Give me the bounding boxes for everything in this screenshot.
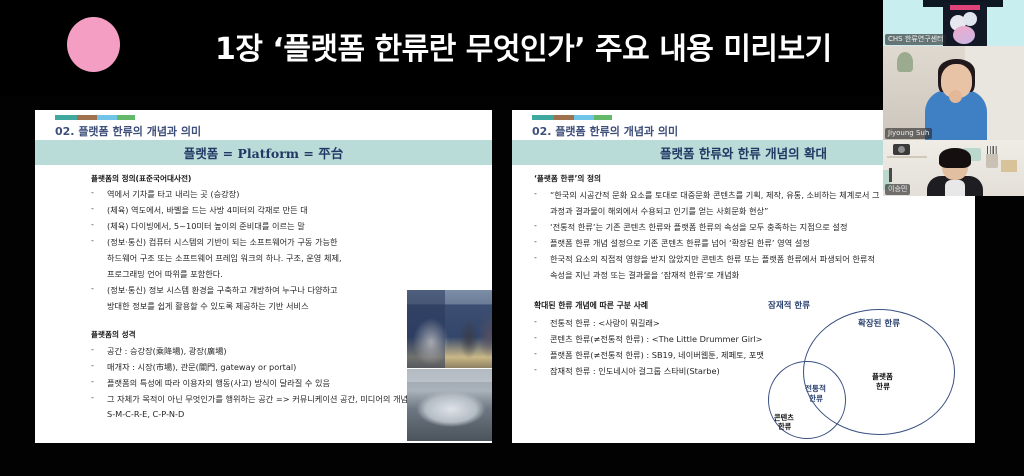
slide-right-section-header: 02. 플랫폼 한류의 개념과 의미 (532, 123, 678, 139)
bullet-dash: - (534, 349, 537, 358)
slide-left-bullet-2-4b: S-M-C-R-E, C-P-N-D (107, 409, 184, 419)
slide-left-bullet-2-2: 매개자 : 시장(市場), 관문(關門, gateway or portal) (107, 361, 296, 373)
bullet-dash: - (91, 377, 94, 386)
slide-right-bullet-1-3: 플랫폼 한류 개념 설정으로 기존 콘텐츠 한류를 넘어 ‘확장된 한류’ 영역… (550, 237, 810, 249)
bullet-dash: - (91, 361, 94, 370)
slide-left-bullet-1-4b: 하드웨어 구조 또는 소프트웨어 프레임 워크의 하나. 구조, 운영 체제, (107, 252, 342, 264)
participant-shirt (945, 180, 965, 196)
slide-left-bullet-1-2: (체육) 역도에서, 바벨을 드는 사방 4미터의 각재로 만든 대 (107, 204, 308, 216)
slide-right-bullet-1-4b: 속성을 지닌 과정 또는 결과물을 ‘잠재적 한류’로 개념화 (550, 269, 739, 281)
slide-left-bullet-1-4c: 프로그래밍 언어 따위를 포함한다. (107, 268, 223, 280)
title-bar: 1장 ‘플랫폼 한류란 무엇인가’ 주요 내용 미리보기 (0, 0, 1024, 96)
venn-label-platform-hallyu-2: 한류 (876, 381, 890, 392)
slide-left-heading-2: 플랫폼의 성격 (91, 329, 136, 340)
slide-right-bullet-2-2: 콘텐츠 한류(≠전통적 한류) : <The Little Drummer Gi… (550, 333, 763, 345)
slide-right-bullet-1-2: ‘전통적 한류’는 기존 콘텐츠 한류와 플랫폼 한류의 속성을 모두 충족하는… (550, 221, 847, 233)
bullet-dash: - (534, 221, 537, 230)
slide-left-bullet-2-4a: 그 자체가 목적이 아닌 무엇인가를 행위하는 공간 => 커뮤니케이션 공간,… (107, 393, 439, 405)
participant-name-label: 이승민 (885, 184, 910, 195)
bullet-dash: - (91, 393, 94, 402)
slide-left-bullet-2-3: 플랫폼의 특성에 따라 이용자의 행동(사고) 방식이 달라질 수 있음 (107, 377, 330, 389)
bullet-dash: - (91, 236, 94, 245)
slide-right-bullet-2-3: 플랫폼 한류(≠전통적 한류) : SB19, 네이버웹툰, 제페토, 포맷 (550, 349, 764, 361)
accent-bar-left (55, 115, 135, 120)
pink-circle-decoration (67, 17, 120, 72)
video-tile-lee-seungmin[interactable]: 이승민 (883, 140, 1024, 196)
slide-left-banner: 플랫폼 = Platform = 平台 (35, 140, 492, 165)
shelf-decor (887, 156, 927, 158)
bullet-dash: - (534, 189, 537, 198)
accent-bar-right (532, 115, 612, 120)
bullet-dash: - (91, 284, 94, 293)
slide-right-heading-1: ‘플랫폼 한류’의 정의 (534, 173, 601, 184)
slide-right-bullet-2-4: 잠재적 한류 : 인도네시아 걸그룹 스타비(Starbe) (550, 365, 720, 377)
participant-hand (949, 90, 962, 103)
video-tile-jiyoung-suh[interactable]: Jiyoung Suh (883, 46, 1024, 140)
camera-decor (893, 144, 910, 155)
slide-left-section-header: 02. 플랫폼 한류의 개념과 의미 (55, 123, 201, 139)
venn-label-traditional-hallyu-2: 한류 (809, 393, 823, 404)
venn-label-expanded-hallyu: 확장된 한류 (858, 317, 900, 329)
high-speed-train-photo (407, 369, 492, 441)
bullet-dash: - (534, 365, 537, 374)
slide-left-bullet-1-5b: 방대한 정보를 쉽게 활용할 수 있도록 제공하는 기반 서비스 (107, 300, 309, 312)
slide-left-bullet-1-5a: (정보·통신) 정보 시스템 환경을 구축하고 개방하여 누구나 다양하고 (107, 284, 338, 296)
bullet-dash: - (534, 317, 537, 326)
hallyu-venn-diagram: 잠재적 한류 확장된 한류 플랫폼 한류 전통적 한류 콘텐츠 한류 (760, 295, 965, 440)
slide-left-bullet-1-4a: (정보·통신) 컴퓨터 시스템의 기반이 되는 소프트웨어가 구동 가능한 (107, 236, 338, 248)
slide-right-heading-2: 확대된 한류 개념에 따른 구분 사례 (534, 300, 648, 311)
pen-holder-cup (986, 154, 998, 168)
venn-label-potential-hallyu: 잠재적 한류 (768, 299, 810, 311)
bullet-dash: - (91, 204, 94, 213)
slide-left[interactable]: 02. 플랫폼 한류의 개념과 의미 플랫폼 = Platform = 平台 플… (35, 110, 492, 443)
slide-right-bullet-1-1b: 과정과 결과물이 해외에서 수용되고 인기를 얻는 사회문화 현상” (550, 205, 768, 217)
wall-hook-decor (889, 168, 899, 182)
plant-decor (897, 52, 913, 72)
page-title: 1장 ‘플랫폼 한류란 무엇인가’ 주요 내용 미리보기 (215, 26, 885, 74)
bullet-dash: - (534, 253, 537, 262)
slide-left-bullet-1-3: (체육) 다이빙에서, 5~10미터 높이의 준비대를 이르는 말 (107, 220, 305, 232)
poster-graphic (943, 2, 987, 46)
bullet-dash: - (534, 333, 537, 342)
slide-left-heading-1: 플랫폼의 정의(표준국어대사전) (91, 173, 191, 184)
bullet-dash: - (91, 220, 94, 229)
participant-hair (939, 148, 971, 168)
bullet-dash: - (91, 188, 94, 197)
video-tile-chs[interactable]: CHS 한류연구센터 (883, 0, 1024, 46)
slide-right-bullet-1-4a: 한국적 요소의 직접적 영향을 받지 않았지만 콘텐츠 한류 또는 플랫폼 한류… (550, 253, 875, 265)
slide-left-bullet-1-1: 역에서 기차를 타고 내리는 곳 (승강장) (107, 188, 239, 200)
slide-right-bullet-1-1a: “한국의 시공간적 문화 요소를 토대로 대중문화 콘텐츠를 기획, 제작, 유… (550, 189, 880, 201)
train-platform-photo (407, 290, 492, 368)
wooden-box-decor (1001, 160, 1017, 172)
participant-name-label: CHS 한류연구센터 (885, 34, 946, 45)
participant-name-label: Jiyoung Suh (885, 128, 932, 139)
slide-left-bullet-2-1: 공간 : 승강장(乘降場), 광장(廣場) (107, 345, 227, 357)
bullet-dash: - (91, 345, 94, 354)
slide-right-bullet-2-1: 전통적 한류 : <사랑이 뭐길래> (550, 317, 660, 329)
venn-label-content-hallyu-2: 한류 (778, 422, 791, 432)
bullet-dash: - (534, 237, 537, 246)
